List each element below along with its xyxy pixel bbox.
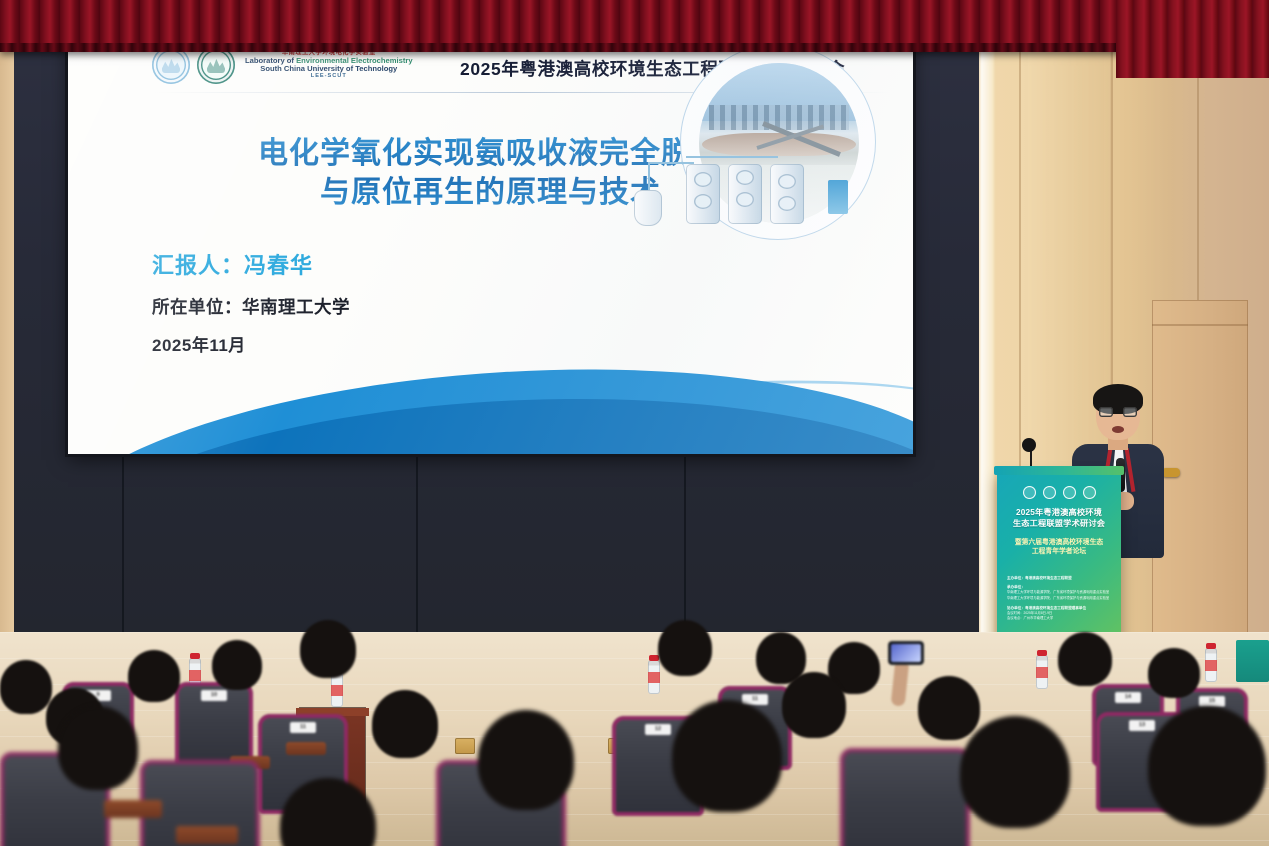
- seat-number: 10: [201, 690, 227, 701]
- podium-details: 主办单位：粤港澳高校环境生态工程联盟 承办单位： 华南理工大学环境与能源学院、广…: [1007, 572, 1111, 622]
- audience-head: [372, 690, 438, 758]
- lab-name-en-line2: South China University of Technology: [245, 65, 413, 73]
- podium-subtitle: 暨第六届粤港澳高校环境生态 工程青年学者论坛: [1005, 538, 1113, 556]
- podium-subtitle-line1: 暨第六届粤港澳高校环境生态: [1005, 538, 1113, 547]
- lab-badge-text: LEE-SCUT: [245, 74, 413, 80]
- seat-armrest: [104, 800, 162, 818]
- podium-title-line1: 2025年粤港澳高校环境: [1003, 508, 1115, 519]
- lab-logo-text: 华南理工大学环境电化学实验室 Laboratory of Environment…: [245, 50, 413, 79]
- audience-head: [300, 620, 356, 678]
- water-bottle-5: [1036, 655, 1048, 689]
- slide-wave-graphic: [68, 334, 913, 454]
- stage-curtain-right: [1116, 0, 1269, 78]
- audience-head: [960, 716, 1070, 828]
- water-bottle: [331, 673, 343, 707]
- seat-armrest: [176, 826, 238, 844]
- audience-head: [658, 620, 712, 676]
- audience-head: [0, 660, 52, 714]
- seat-number: 14: [1115, 692, 1141, 703]
- podium-detail-1: 主办单位：粤港澳高校环境生态工程联盟: [1007, 575, 1111, 581]
- podium-detail-4: 华南理工大学环境与能源学院、广东省环境保护与资源利用重点实验室: [1007, 596, 1111, 602]
- wall-socket-icon: [455, 738, 475, 754]
- seat-number: 12: [645, 724, 671, 735]
- audience-head: [478, 710, 574, 810]
- smartphone-camera: [889, 642, 923, 664]
- projection-screen: 华南理工大学环境电化学实验室 Laboratory of Environment…: [68, 30, 913, 454]
- lecture-hall-photo: 华南理工大学环境电化学实验室 Laboratory of Environment…: [0, 0, 1269, 846]
- audience-head: [1148, 648, 1200, 698]
- seat-number: 11: [290, 722, 316, 733]
- audience-head: [1148, 706, 1266, 826]
- podium-title-line2: 生态工程联盟学术研讨会: [1003, 519, 1115, 530]
- audience-head: [58, 706, 138, 790]
- door-handle-icon[interactable]: [1162, 468, 1180, 477]
- stage-curtain: [0, 0, 1269, 52]
- podium-logo-icon-4: [1083, 486, 1096, 499]
- podium-logo-icon-2: [1043, 486, 1056, 499]
- seat-armrest: [286, 742, 326, 755]
- audience-head: [672, 700, 782, 812]
- teal-standing-sign: [1236, 640, 1269, 682]
- audience-head: [782, 672, 846, 738]
- water-bottle-4: [1205, 648, 1217, 682]
- audience-head: [1058, 632, 1112, 686]
- podium-logo-row: [997, 486, 1121, 499]
- podium-subtitle-line2: 工程青年学者论坛: [1005, 547, 1113, 556]
- slide-equipment-illustration: [624, 138, 854, 228]
- glasses-icon: [1099, 407, 1137, 417]
- podium-logo-icon-1: [1023, 486, 1036, 499]
- audience-head: [212, 640, 262, 690]
- seat[interactable]: [840, 748, 970, 846]
- audience-head: [128, 650, 180, 702]
- side-door[interactable]: [1152, 300, 1248, 660]
- water-bottle-3: [648, 660, 660, 694]
- wall-light-strip: [980, 22, 994, 642]
- podium-title: 2025年粤港澳高校环境 生态工程联盟学术研讨会: [1003, 508, 1115, 530]
- audience-head: [918, 676, 980, 740]
- podium-detail-7: 会议地点：广州市华南理工大学: [1007, 616, 1111, 622]
- seat-number: 13: [1129, 720, 1155, 731]
- slide-affiliation: 所在单位：华南理工大学: [152, 294, 350, 319]
- podium-logo-icon-3: [1063, 486, 1076, 499]
- slide-presenter: 汇报人：冯春华: [152, 248, 350, 280]
